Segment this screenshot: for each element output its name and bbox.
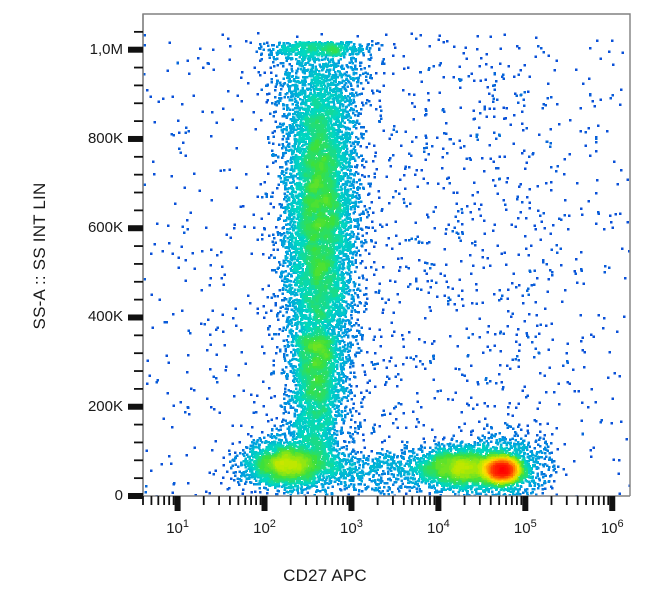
x-tick-exponent: 2 xyxy=(270,518,276,530)
x-tick-label: 106 xyxy=(582,520,642,537)
x-tick-label: 104 xyxy=(408,520,468,537)
x-tick-exponent: 4 xyxy=(444,518,450,530)
y-tick-label: 1,0M xyxy=(53,41,123,58)
event-dots-layer xyxy=(143,32,632,498)
x-tick-label: 103 xyxy=(321,520,381,537)
x-tick-label: 105 xyxy=(495,520,555,537)
x-tick-mantissa: 10 xyxy=(253,520,270,537)
y-tick-label: 800K xyxy=(53,130,123,147)
x-tick-label: 102 xyxy=(235,520,295,537)
y-tick-label: 400K xyxy=(53,308,123,325)
x-tick-mantissa: 10 xyxy=(166,520,183,537)
x-tick-mantissa: 10 xyxy=(601,520,618,537)
scatter-plot-canvas xyxy=(0,0,650,608)
x-axis-title: CD27 APC xyxy=(0,566,650,586)
x-tick-exponent: 3 xyxy=(357,518,363,530)
y-tick-label: 0 xyxy=(53,487,123,504)
x-tick-mantissa: 10 xyxy=(340,520,357,537)
x-tick-label: 101 xyxy=(148,520,208,537)
y-axis-title: SS-A :: SS INT LIN xyxy=(30,56,50,456)
y-tick-label: 200K xyxy=(53,398,123,415)
axis-ticks xyxy=(128,14,630,511)
y-tick-label: 600K xyxy=(53,219,123,236)
x-tick-mantissa: 10 xyxy=(514,520,531,537)
x-tick-exponent: 1 xyxy=(183,518,189,530)
x-tick-exponent: 5 xyxy=(531,518,537,530)
x-tick-mantissa: 10 xyxy=(427,520,444,537)
x-tick-exponent: 6 xyxy=(618,518,624,530)
flow-cytometry-plot: SS-A :: SS INT LIN CD27 APC 0200K400K600… xyxy=(0,0,650,608)
